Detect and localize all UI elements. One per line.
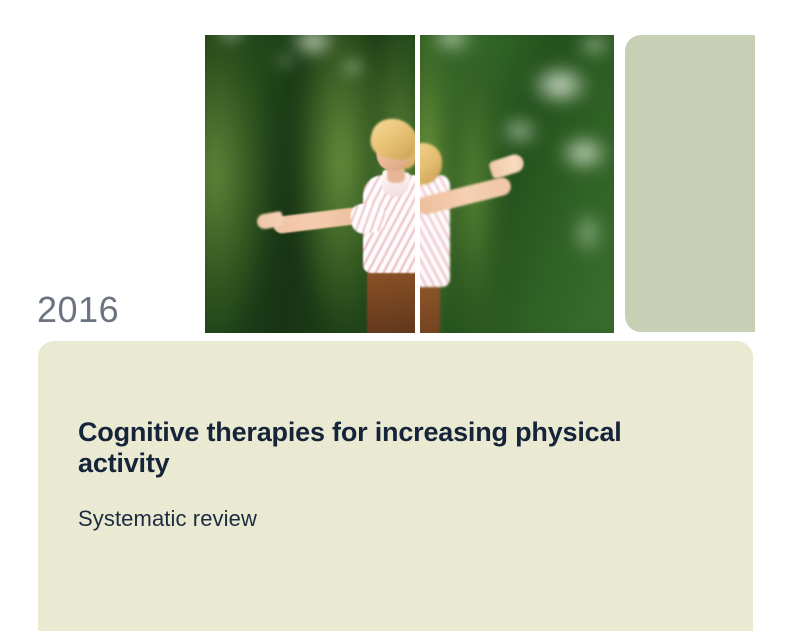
publication-year: 2016 bbox=[37, 292, 119, 328]
green-accent-block bbox=[625, 35, 755, 332]
blonde-hair bbox=[367, 115, 415, 164]
cover-page: 2016 bbox=[0, 0, 800, 620]
photo-panel-right bbox=[420, 35, 614, 333]
brown-skirt bbox=[367, 267, 415, 333]
title-panel: Cognitive therapies for increasing physi… bbox=[38, 341, 753, 631]
woman-figure bbox=[333, 107, 415, 333]
report-title: Cognitive therapies for increasing physi… bbox=[78, 417, 708, 480]
photo-panel-left bbox=[205, 35, 415, 333]
right-hand bbox=[488, 152, 526, 180]
report-subtitle: Systematic review bbox=[78, 506, 257, 532]
brown-skirt-right bbox=[420, 285, 440, 333]
woman-figure-continuation bbox=[420, 135, 544, 333]
photo-panel-divider bbox=[415, 35, 420, 333]
cover-photo bbox=[205, 35, 614, 333]
